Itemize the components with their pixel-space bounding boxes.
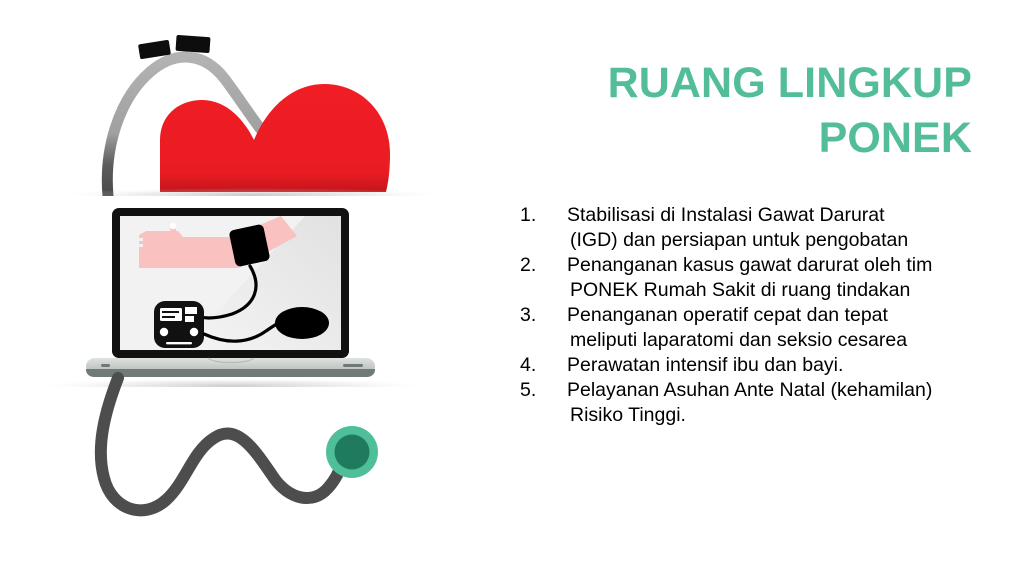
monitor-button-right[interactable] <box>190 328 198 336</box>
stethoscope-chestpiece <box>326 426 378 478</box>
list-item-text: Pelayanan Asuhan Ante Natal (kehamilan) … <box>567 378 1012 428</box>
monitor-speaker-slot <box>166 342 192 344</box>
monitor-button-left[interactable] <box>160 328 168 336</box>
list-item-line: PONEK Rumah Sakit di ruang tindakan <box>567 278 1012 303</box>
page-title: RUANG LINGKUP PONEK <box>532 56 972 166</box>
laptop-base <box>86 358 375 377</box>
stethoscope-earpiece-right <box>175 35 210 53</box>
laptop-device <box>86 208 375 377</box>
monitor-display <box>160 308 182 321</box>
list-item-text: Penanganan kasus gawat darurat oleh tim … <box>567 253 1012 303</box>
slide-canvas: RUANG LINGKUP PONEK 1. Stabilisasi di In… <box>0 0 1024 576</box>
list-item-number: 5. <box>520 378 550 403</box>
medical-illustration <box>0 0 500 576</box>
chestpiece-diaphragm <box>335 435 370 470</box>
list-item-text: Stabilisasi di Instalasi Gawat Darurat (… <box>567 203 1012 253</box>
list-item: 4. Perawatan intensif ibu dan bayi. <box>512 353 1012 378</box>
list-item: 2. Penanganan kasus gawat darurat oleh t… <box>512 253 1012 303</box>
list-item-number: 2. <box>520 253 550 278</box>
list-item-line: Perawatan intensif ibu dan bayi. <box>567 353 1012 378</box>
page-title-line-1: RUANG LINGKUP <box>532 56 972 111</box>
blood-pressure-monitor <box>154 301 204 348</box>
heart-shape <box>160 84 390 192</box>
monitor-systolic-readout <box>185 307 197 314</box>
separator-band-bottom <box>0 387 500 399</box>
list-item: 5. Pelayanan Asuhan Ante Natal (kehamila… <box>512 378 1012 428</box>
list-item-text: Penanganan operatif cepat dan tepat meli… <box>567 303 1012 353</box>
list-item-text: Perawatan intensif ibu dan bayi. <box>567 353 1012 378</box>
list-item-number: 3. <box>520 303 550 328</box>
list-item-number: 1. <box>520 203 550 228</box>
monitor-diastolic-readout <box>185 316 194 322</box>
list-item-line: Stabilisasi di Instalasi Gawat Darurat <box>567 203 1012 228</box>
inflation-bulb <box>275 307 329 339</box>
list-item: 3. Penanganan operatif cepat dan tepat m… <box>512 303 1012 353</box>
list-item-number: 4. <box>520 353 550 378</box>
list-item: 1. Stabilisasi di Instalasi Gawat Darura… <box>512 203 1012 253</box>
separator-band-top <box>0 196 500 210</box>
list-item-line: Penanganan operatif cepat dan tepat <box>567 303 1012 328</box>
list-item-line: meliputi laparatomi dan seksio cesarea <box>567 328 1012 353</box>
content-column: RUANG LINGKUP PONEK 1. Stabilisasi di In… <box>500 0 1024 576</box>
list-item-line: Pelayanan Asuhan Ante Natal (kehamilan) <box>567 378 1012 403</box>
laptop-base-vent-right <box>343 364 363 367</box>
list-item-line: Risiko Tinggi. <box>567 403 1012 428</box>
laptop-base-vent-left <box>101 364 110 367</box>
list-item-line: Penanganan kasus gawat darurat oleh tim <box>567 253 1012 278</box>
arm-thumb-highlight <box>170 223 176 229</box>
list-item-line: (IGD) dan persiapan untuk pengobatan <box>567 228 1012 253</box>
page-title-line-2: PONEK <box>532 111 972 166</box>
scope-list: 1. Stabilisasi di Instalasi Gawat Darura… <box>512 203 1012 428</box>
